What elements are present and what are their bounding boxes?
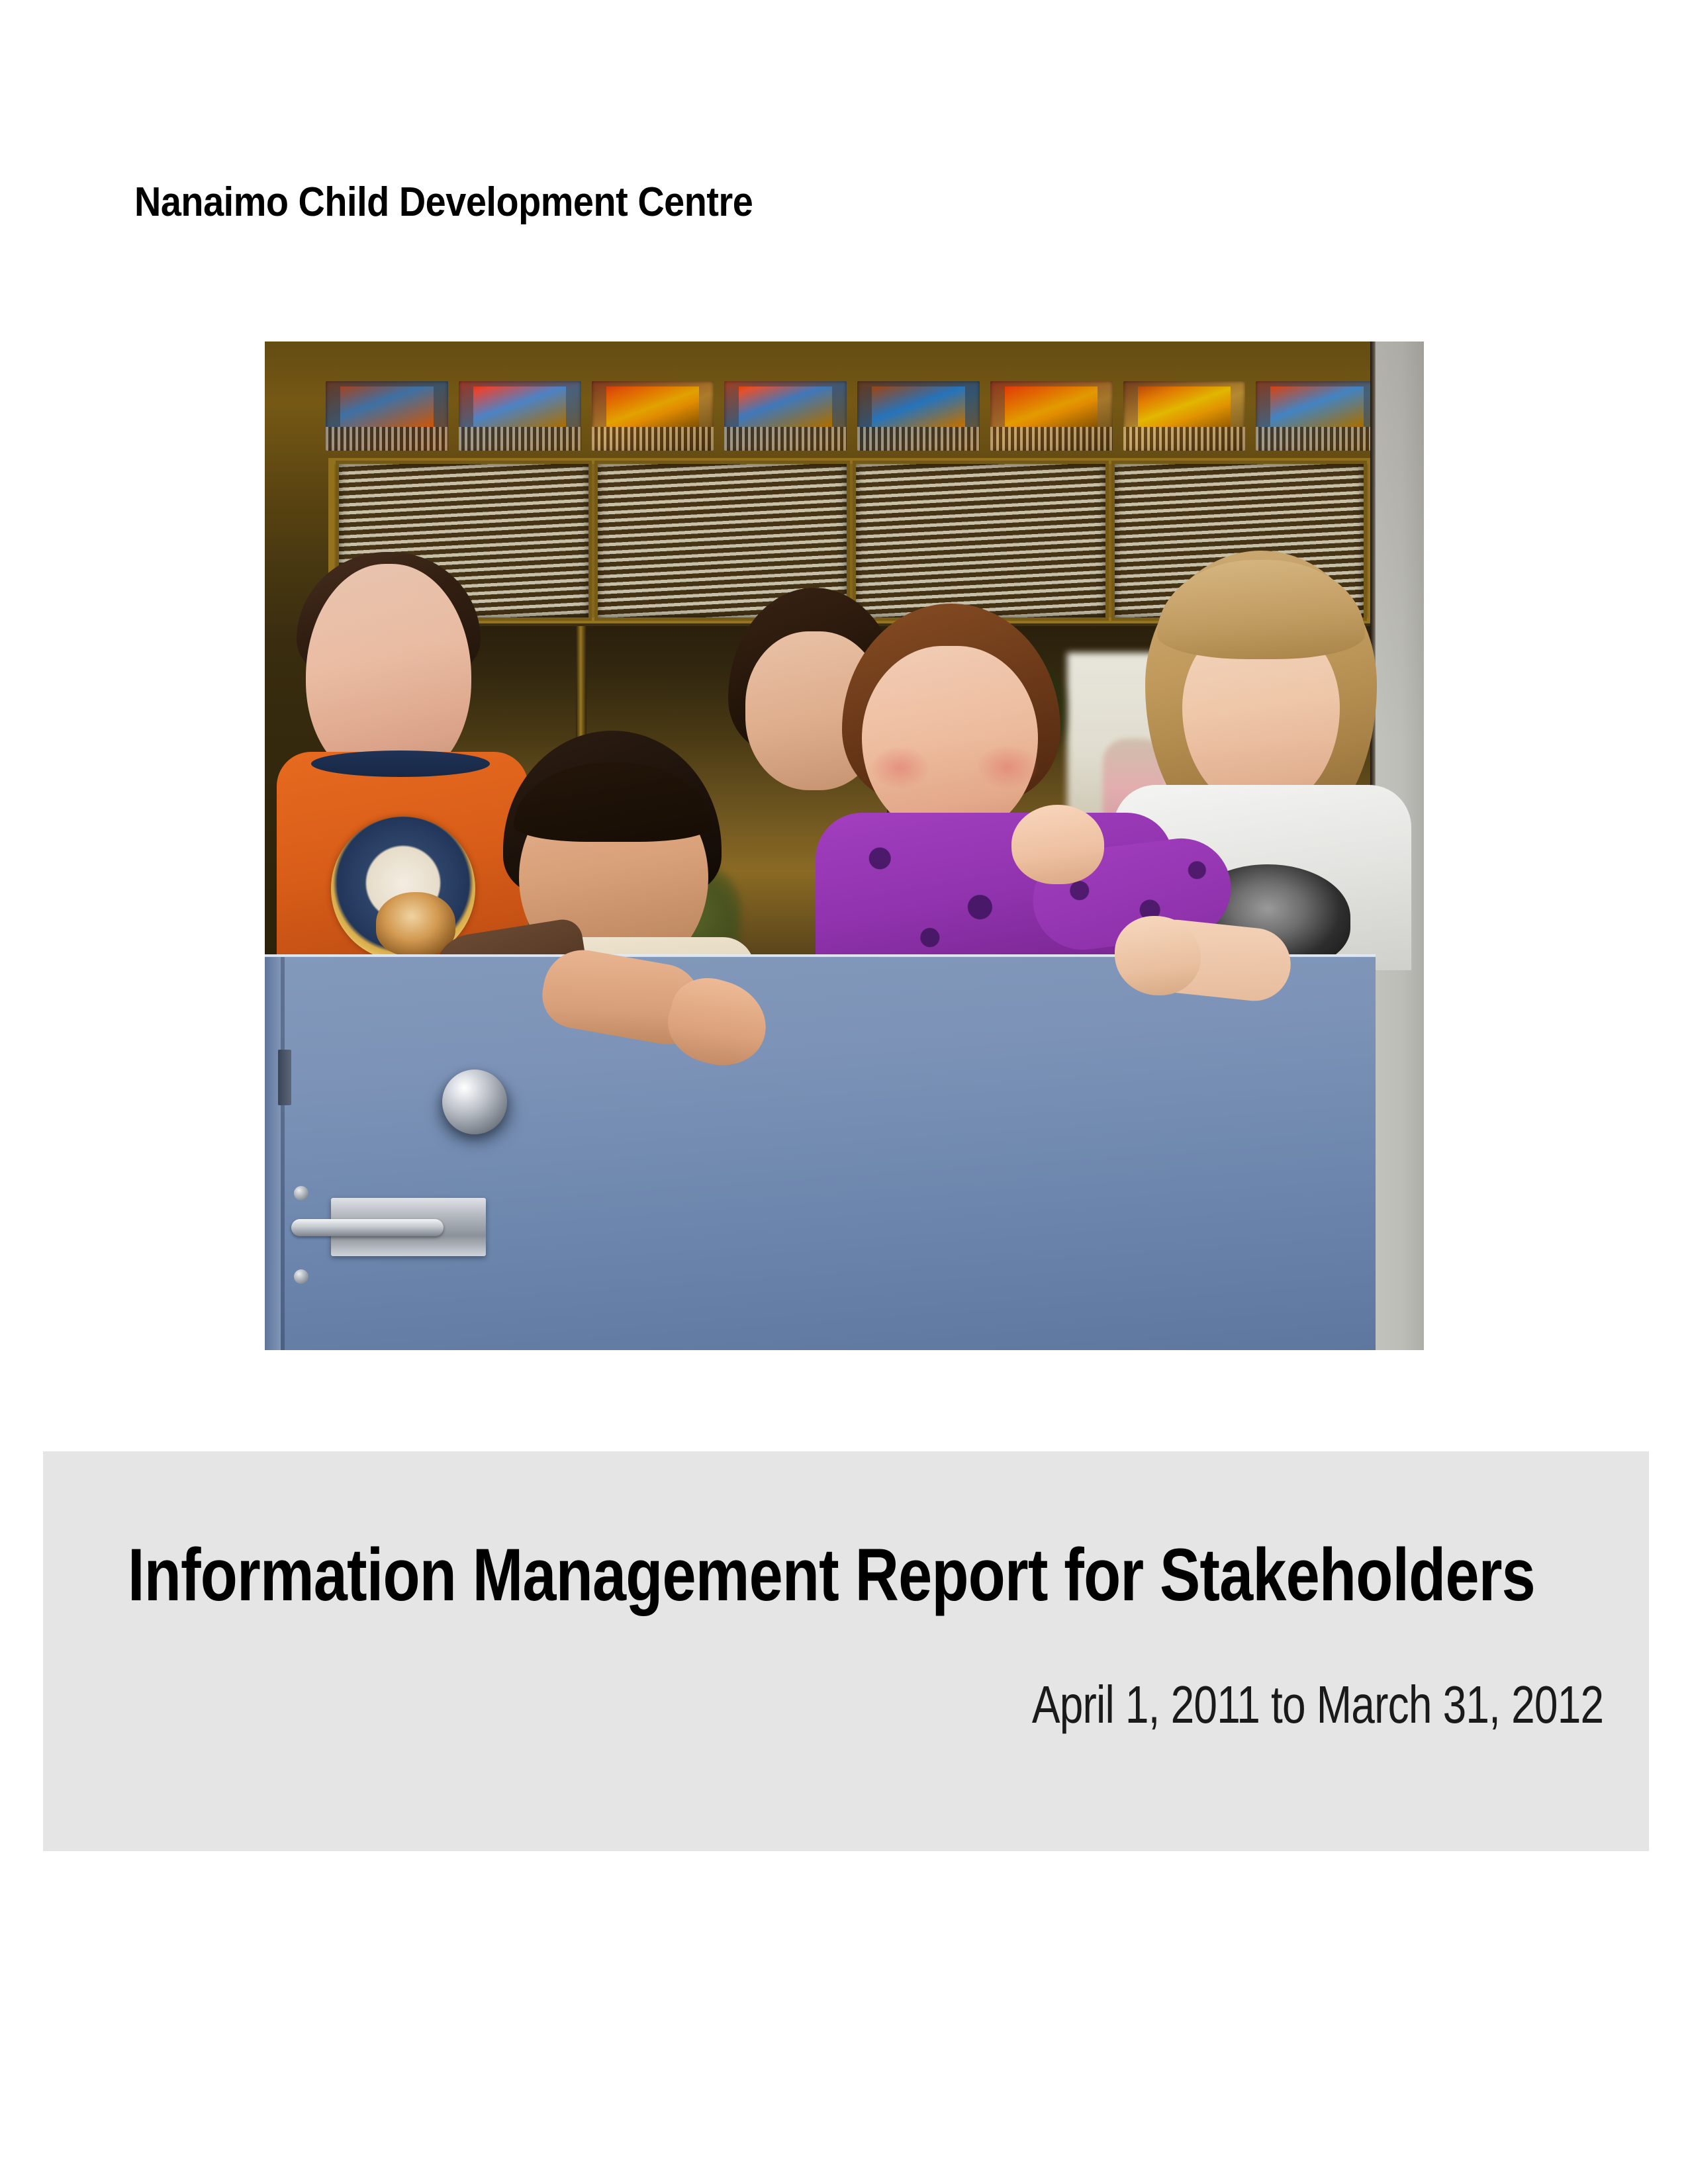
artwork-card bbox=[459, 381, 581, 451]
artwork-card bbox=[326, 381, 448, 451]
child-red-cheek-right bbox=[977, 745, 1038, 789]
child-boy-orange-badge-animal bbox=[376, 892, 455, 956]
door-left-edge bbox=[265, 957, 281, 1350]
door-strike-plate bbox=[278, 1050, 291, 1105]
artwork-card bbox=[1256, 381, 1378, 451]
title-banner bbox=[43, 1451, 1649, 1851]
bolt-screw bbox=[294, 1269, 308, 1284]
cover-photo bbox=[265, 341, 1424, 1350]
door-jamb-shadow bbox=[281, 957, 285, 1350]
bolt-screw bbox=[294, 1186, 308, 1201]
artwork-card bbox=[990, 381, 1113, 451]
artwork-card bbox=[724, 381, 847, 451]
child-red-hand bbox=[1011, 805, 1104, 884]
window-pane-blinds bbox=[856, 464, 1105, 617]
report-title: Information Management Report for Stakeh… bbox=[128, 1532, 1535, 1617]
organization-name: Nanaimo Child Development Centre bbox=[134, 179, 753, 226]
childrens-artwork-strip bbox=[326, 381, 1378, 451]
child-boy-orange-collar bbox=[311, 751, 490, 777]
report-period: April 1, 2011 to March 31, 2012 bbox=[1032, 1674, 1603, 1735]
door-slide-bolt bbox=[291, 1219, 444, 1236]
door-knob-icon bbox=[442, 1069, 507, 1134]
artwork-card bbox=[592, 381, 714, 451]
child-red-cheek-left bbox=[871, 747, 929, 789]
artwork-card bbox=[1123, 381, 1246, 451]
artwork-card bbox=[857, 381, 980, 451]
child-red-face bbox=[862, 646, 1038, 838]
child-boy-orange-head bbox=[306, 564, 471, 782]
blue-door bbox=[265, 957, 1376, 1350]
